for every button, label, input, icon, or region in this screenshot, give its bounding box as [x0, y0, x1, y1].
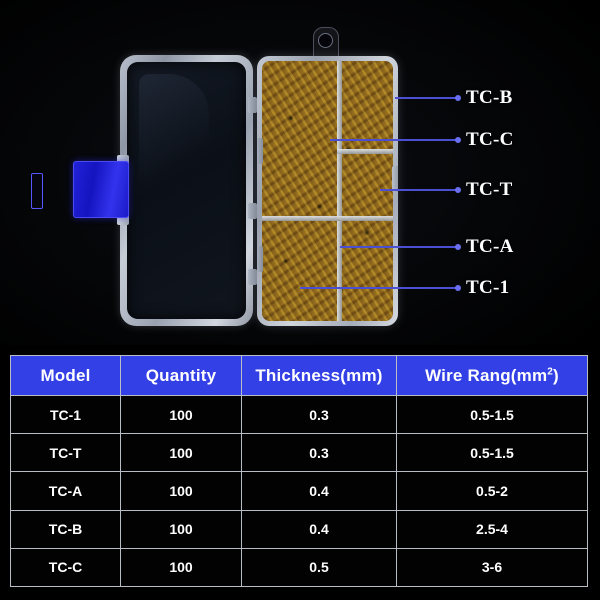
table-row: TC-A1000.40.5-2	[11, 472, 588, 510]
lid-notch	[248, 269, 257, 285]
cell-quantity: 100	[121, 396, 242, 434]
product-photo: TC-B TC-C TC-T TC-A TC-1	[0, 0, 600, 345]
callout-dot-tc-a	[455, 244, 461, 250]
cell-wire-range: 3-6	[397, 548, 588, 586]
table-header-row: Model Quantity Thickness(mm) Wire Rang(m…	[11, 356, 588, 396]
cell-model: TC-1	[11, 396, 121, 434]
hang-hole-icon	[318, 33, 333, 48]
table-row: TC-11000.30.5-1.5	[11, 396, 588, 434]
callout-line-tc-1	[300, 287, 458, 289]
cell-thickness: 0.3	[242, 396, 397, 434]
column-header-thickness: Thickness(mm)	[242, 356, 397, 396]
callout-label-tc-b: TC-B	[466, 87, 513, 109]
lid-inner-surface	[127, 62, 246, 319]
cell-quantity: 100	[121, 510, 242, 548]
lid-gloss-highlight	[139, 74, 209, 194]
column-header-wire-range: Wire Rang(mm2)	[397, 356, 588, 396]
table-row: TC-T1000.30.5-1.5	[11, 434, 588, 472]
callout-label-tc-c: TC-C	[466, 129, 514, 151]
callout-dot-tc-b	[455, 95, 461, 101]
wire-range-suffix: )	[553, 366, 559, 385]
cell-quantity: 100	[121, 548, 242, 586]
callout-dot-tc-1	[455, 285, 461, 291]
callout-label-tc-a: TC-A	[466, 236, 514, 258]
compartment-wall-horizontal-upper	[337, 149, 393, 154]
cell-wire-range: 0.5-1.5	[397, 434, 588, 472]
cell-thickness: 0.5	[242, 548, 397, 586]
cell-thickness: 0.4	[242, 510, 397, 548]
clasp-slot	[31, 173, 43, 209]
lid-notch	[248, 97, 257, 113]
cell-model: TC-B	[11, 510, 121, 548]
cell-wire-range: 0.5-2	[397, 472, 588, 510]
cell-wire-range: 0.5-1.5	[397, 396, 588, 434]
gold-shadow-texture	[262, 61, 393, 321]
box-tray	[257, 56, 398, 326]
table-body: TC-11000.30.5-1.5TC-T1000.30.5-1.5TC-A10…	[11, 396, 588, 587]
callout-dot-tc-c	[455, 137, 461, 143]
callout-line-tc-c	[330, 139, 458, 141]
blue-clasp-latch	[73, 161, 129, 218]
tray-notch	[257, 138, 263, 164]
cell-quantity: 100	[121, 472, 242, 510]
spec-table: Model Quantity Thickness(mm) Wire Rang(m…	[10, 355, 588, 587]
callout-label-tc-1: TC-1	[466, 277, 509, 299]
column-header-wire-range-text: Wire Rang(mm	[425, 366, 547, 385]
cell-model: TC-C	[11, 548, 121, 586]
cell-model: TC-T	[11, 434, 121, 472]
column-header-model: Model	[11, 356, 121, 396]
column-header-quantity: Quantity	[121, 356, 242, 396]
table-row: TC-C1000.53-6	[11, 548, 588, 586]
compartment-wall-horizontal-mid	[262, 216, 393, 221]
cell-model: TC-A	[11, 472, 121, 510]
cell-thickness: 0.4	[242, 472, 397, 510]
callout-label-tc-t: TC-T	[466, 179, 513, 201]
callout-line-tc-b	[395, 97, 458, 99]
box-lid	[120, 55, 253, 326]
tray-inner	[262, 61, 393, 321]
product-infographic: TC-B TC-C TC-T TC-A TC-1 Model Quantity …	[0, 0, 600, 600]
table-row: TC-B1000.42.5-4	[11, 510, 588, 548]
lid-notch	[248, 203, 257, 219]
callout-dot-tc-t	[455, 187, 461, 193]
callout-line-tc-a	[340, 246, 458, 248]
cell-quantity: 100	[121, 434, 242, 472]
cell-wire-range: 2.5-4	[397, 510, 588, 548]
compartment-wall-vertical-bottom	[337, 221, 342, 321]
cell-thickness: 0.3	[242, 434, 397, 472]
callout-line-tc-t	[380, 189, 458, 191]
tray-notch	[257, 246, 263, 272]
